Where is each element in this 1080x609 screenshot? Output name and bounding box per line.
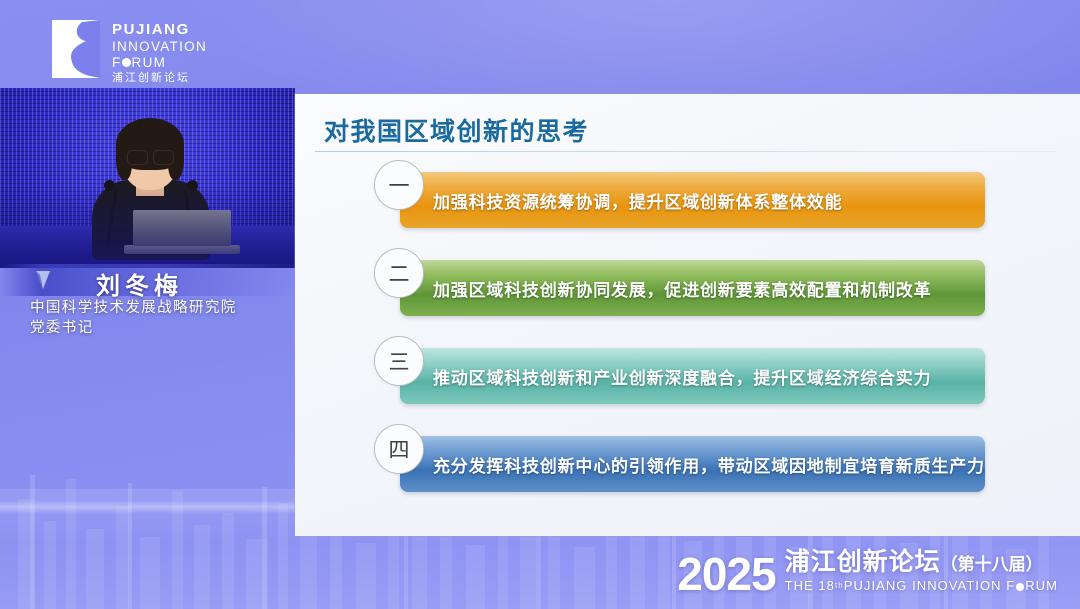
speaker-nameplate: 刘冬梅 中国科学技术发展战略研究院 党委书记 (0, 264, 295, 339)
forum-branding: 2025 浦江创新论坛 （第十八届） THE 18th PUJIANG INNO… (677, 550, 1058, 595)
logo-o-dot-icon (122, 58, 131, 67)
slide-title-divider (315, 151, 1057, 152)
slide-item-number: 二 (374, 248, 424, 298)
forum-edition-cn: （第十八届） (941, 556, 1043, 573)
slide-item-text: 加强科技资源统筹协调，提升区域创新体系整体效能 (433, 188, 842, 213)
slide-item-bar: 推动区域科技创新和产业创新深度融合，提升区域经济综合实力 (400, 348, 985, 404)
slide-item-row: 加强科技资源统筹协调，提升区域创新体系整体效能 一 (295, 156, 1080, 244)
slide-item-row: 加强区域科技创新协同发展，促进创新要素高效配置和机制改革 二 (295, 244, 1080, 332)
logo-wordmark: PUJIANG INNOVATION FRUM 浦江创新论坛 (112, 20, 207, 85)
slide-item-text: 加强区域科技创新协同发展，促进创新要素高效配置和机制改革 (433, 276, 931, 301)
pujiang-logo: PUJIANG INNOVATION FRUM 浦江创新论坛 (52, 20, 207, 85)
logo-swoosh-icon (52, 20, 100, 78)
speaker-organization: 中国科学技术发展战略研究院 党委书记 (30, 298, 300, 338)
forum-name-en-post: RUM (1025, 578, 1058, 593)
video-vignette (0, 88, 295, 268)
slide-item-list: 加强科技资源统筹协调，提升区域创新体系整体效能 一 加强区域科技创新协同发展，促… (295, 156, 1080, 508)
slide-item-row: 推动区域科技创新和产业创新深度融合，提升区域经济综合实力 三 (295, 332, 1080, 420)
slide-title: 对我国区域创新的思考 (324, 112, 589, 148)
forum-ordinal-suffix: th (835, 581, 844, 590)
pujiang-logo-mark (52, 20, 100, 78)
slide-item-bar: 充分发挥科技创新中心的引领作用，带动区域因地制宜培育新质生产力 (400, 436, 985, 492)
speaker-name: 刘冬梅 (96, 266, 183, 301)
forum-name-cn-main: 浦江创新论坛 (785, 550, 941, 575)
slide-item-text: 充分发挥科技创新中心的引领作用，带动区域因地制宜培育新质生产力 (433, 452, 985, 477)
forum-o-dot-icon (1016, 583, 1024, 591)
slide-item-row: 充分发挥科技创新中心的引领作用，带动区域因地制宜培育新质生产力 四 (295, 420, 1080, 508)
forum-name-en: THE 18th PUJIANG INNOVATION FRUM (785, 578, 1058, 593)
slide-item-number: 四 (374, 424, 424, 474)
forum-year: 2025 (677, 553, 775, 595)
slide-item-number: 三 (374, 336, 424, 386)
slide-item-text: 推动区域科技创新和产业创新深度融合，提升区域经济综合实力 (433, 364, 931, 389)
broadcast-stage: PUJIANG INNOVATION FRUM 浦江创新论坛 刘冬梅 (0, 0, 1080, 609)
slide-item-bar: 加强区域科技创新协同发展，促进创新要素高效配置和机制改革 (400, 260, 985, 316)
logo-line-chinese: 浦江创新论坛 (112, 73, 207, 85)
forum-name-cn: 浦江创新论坛 （第十八届） (785, 550, 1058, 575)
forum-name-block: 浦江创新论坛 （第十八届） THE 18th PUJIANG INNOVATIO… (785, 550, 1058, 595)
slide-item-number: 一 (374, 160, 424, 210)
logo-line-forum: FRUM (112, 56, 207, 70)
logo-line-pujiang: PUJIANG (112, 22, 207, 38)
presentation-slide: 对我国区域创新的思考 加强科技资源统筹协调，提升区域创新体系整体效能 一 加强区… (295, 94, 1080, 536)
speaker-video (0, 88, 295, 268)
chevron-icon (34, 268, 60, 292)
slide-item-bar: 加强科技资源统筹协调，提升区域创新体系整体效能 (400, 172, 985, 228)
logo-line-innovation: INNOVATION (112, 40, 207, 54)
speaker-org-line1: 中国科学技术发展战略研究院 (30, 298, 300, 318)
forum-name-en-mid: PUJIANG INNOVATION F (844, 578, 1015, 593)
speaker-org-line2: 党委书记 (30, 318, 300, 338)
forum-name-en-pre: THE 18 (785, 578, 835, 593)
